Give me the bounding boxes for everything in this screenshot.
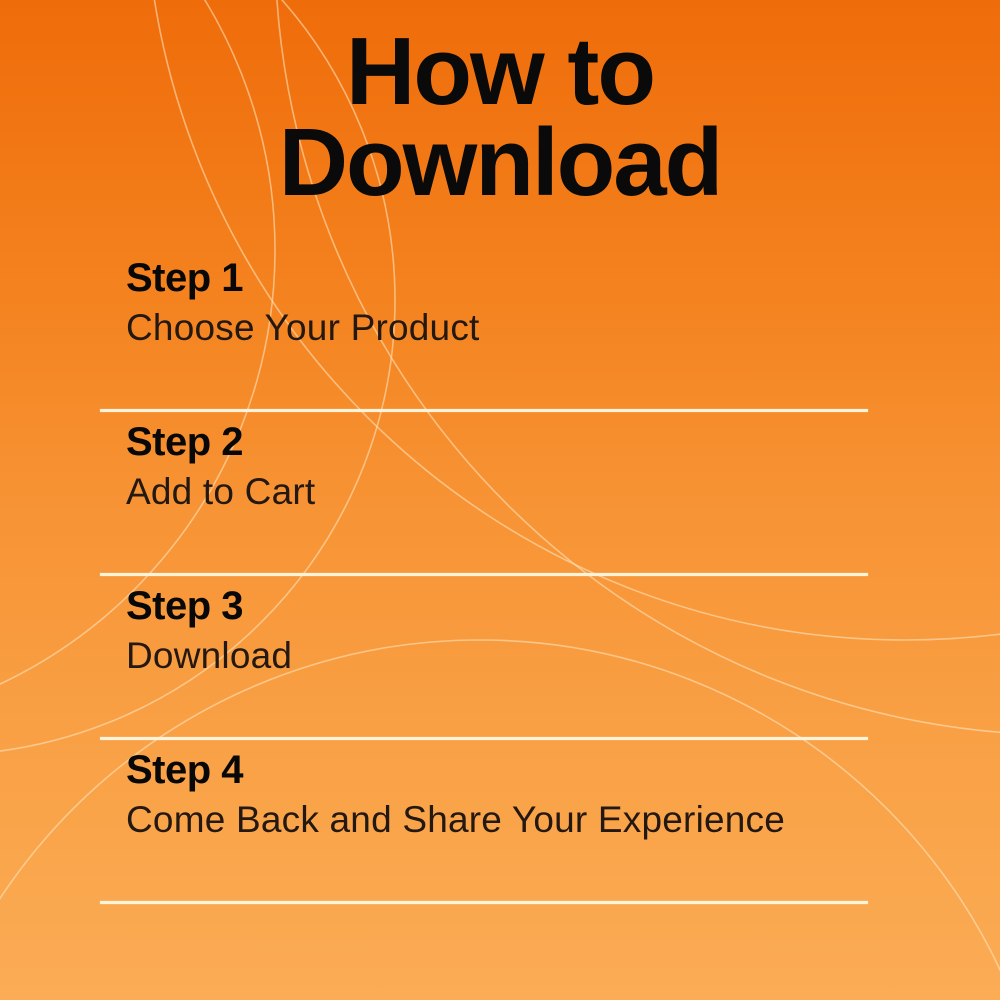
step-item-4: Step 4 Come Back and Share Your Experien… bbox=[100, 740, 868, 904]
step-description-3: Download bbox=[126, 626, 868, 676]
step-label-3: Step 3 bbox=[126, 576, 868, 626]
step-description-4: Come Back and Share Your Experience bbox=[126, 790, 868, 840]
step-item-3: Step 3 Download bbox=[100, 576, 868, 740]
step-description-2: Add to Cart bbox=[126, 462, 868, 512]
step-label-1: Step 1 bbox=[126, 248, 868, 298]
step-item-1: Step 1 Choose Your Product bbox=[100, 248, 868, 412]
page-title-line-2: Download bbox=[0, 117, 1000, 208]
steps-list: Step 1 Choose Your Product Step 2 Add to… bbox=[100, 248, 868, 904]
page-title-line-1: How to bbox=[0, 26, 1000, 117]
step-description-1: Choose Your Product bbox=[126, 298, 868, 348]
how-to-download-poster: How to Download Step 1 Choose Your Produ… bbox=[0, 0, 1000, 1000]
step-divider-4 bbox=[100, 901, 868, 904]
page-title: How to Download bbox=[0, 26, 1000, 208]
step-label-4: Step 4 bbox=[126, 740, 868, 790]
step-label-2: Step 2 bbox=[126, 412, 868, 462]
step-item-2: Step 2 Add to Cart bbox=[100, 412, 868, 576]
